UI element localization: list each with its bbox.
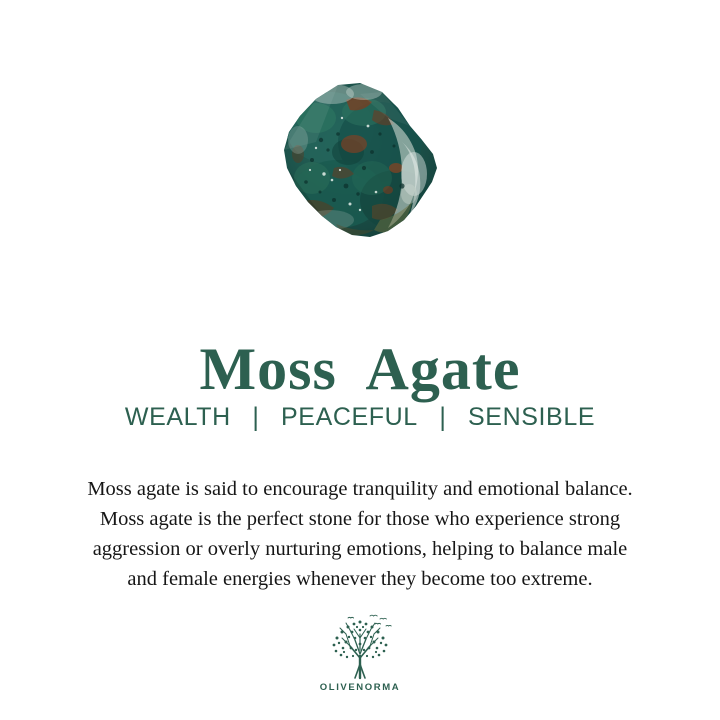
description-line: aggression or overly nurturing emotions,…: [30, 534, 690, 564]
keyword-separator: |: [252, 401, 259, 433]
description-line: and female energies whenever they become…: [30, 564, 690, 594]
keyword-wealth: WEALTH: [125, 402, 231, 432]
keyword-peaceful: PEACEFUL: [281, 402, 418, 432]
brand-name: OLIVENORMA: [320, 682, 400, 693]
description-text: Moss agate is said to encourage tranquil…: [30, 474, 690, 594]
keyword-list: WEALTH | PEACEFUL | SENSIBLE: [0, 402, 720, 432]
description-line: Moss agate is the perfect stone for thos…: [30, 504, 690, 534]
brand-logo: OLIVENORMA: [0, 612, 720, 693]
moss-agate-info-card: Moss Agate WEALTH | PEACEFUL | SENSIBLE …: [0, 0, 720, 720]
keyword-sensible: SENSIBLE: [468, 402, 595, 432]
moss-agate-stone: [276, 82, 444, 240]
page-title: Moss Agate: [0, 339, 720, 399]
stone-image-container: [0, 78, 720, 243]
keyword-separator: |: [439, 401, 446, 433]
olive-tree-icon: [322, 612, 398, 680]
description-line: Moss agate is said to encourage tranquil…: [30, 474, 690, 504]
